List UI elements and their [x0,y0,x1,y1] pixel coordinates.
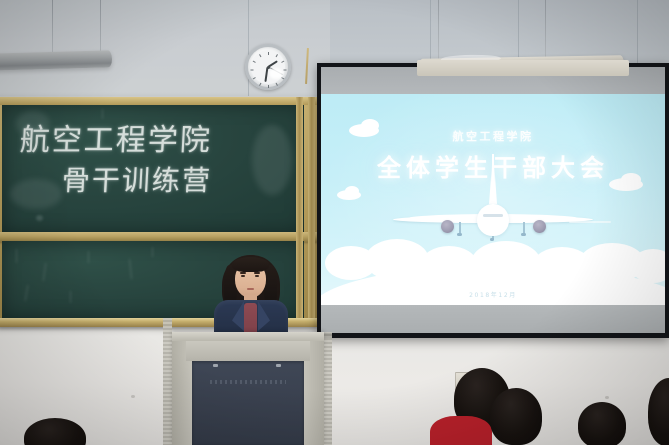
blackboard-rail-vertical-1 [296,97,303,323]
clock-glare [269,68,283,79]
audience-head-3 [578,402,626,445]
wall-clock [245,44,291,90]
wall-scuff-1 [131,395,135,398]
cloud-lump-3 [421,246,477,282]
lectern-fastener-right [276,364,281,367]
lectern-shelf [186,341,310,361]
airplane-engine-left [441,220,454,233]
airplane-graphic [393,190,593,250]
speaker-at-podium [206,253,296,343]
light-rod-right-b [545,0,546,58]
projection-screen-surface: 航空工程学院 全体学生干部大会 [321,67,665,333]
airplane-wheel-nose [490,238,494,241]
blackboard-text-line1: 航空工程学院 [19,115,213,159]
cloud-lump-2 [365,239,429,281]
clock-rim [245,44,291,90]
presenter-eye-right [255,275,259,277]
slide-subtitle: 航空工程学院 [321,128,665,144]
light-rod-right-a [438,0,439,60]
cloud-2b [345,186,359,196]
lectern-front-panel [192,361,304,445]
presenter-eye-left [241,275,245,277]
screen-blank-bottom [321,305,665,333]
lectern-engraving [210,380,286,384]
airplane-fuselage [477,204,509,236]
audience-head-2 [490,388,542,445]
light-rod-left-b [100,0,101,57]
lectern-top-surface [172,332,324,341]
light-rod-left-a [52,0,53,54]
lectern [172,332,324,445]
projected-slide: 航空工程学院 全体学生干部大会 [321,94,665,305]
classroom-scene: 航空工程学院 骨干训练营 航空工程学院 全体学生干部大会 [0,0,669,445]
wall-scuff-2 [605,396,609,399]
lectern-fastener-left [213,364,218,367]
audience-shoulder-red [430,416,492,445]
presenter-mouth [247,288,254,290]
airplane-cockpit-windows [483,214,503,217]
airplane-wing-streak-right [569,221,611,223]
clock-center-pin [267,66,270,69]
clock-face [251,50,285,84]
cloud-lump-4 [471,241,541,285]
blackboard-frame-top [0,97,318,105]
ceiling-light-left [0,50,112,70]
airplane-engine-right [533,220,546,233]
lower-wall [0,322,669,445]
wall-trim-left [163,318,172,445]
blackboard-text-line2: 骨干训练营 [61,159,213,199]
projection-screen-frame: 航空工程学院 全体学生干部大会 [317,63,669,338]
airplane-wheel-left [457,233,462,236]
blackboard-rail-vertical-2 [308,97,315,323]
slide-date: 2018年12月 [321,290,665,299]
airplane-wheel-right [521,233,526,236]
presenter-fringe [232,257,269,272]
wall-trim-right [324,332,332,445]
projection-screen-housing [417,60,629,76]
